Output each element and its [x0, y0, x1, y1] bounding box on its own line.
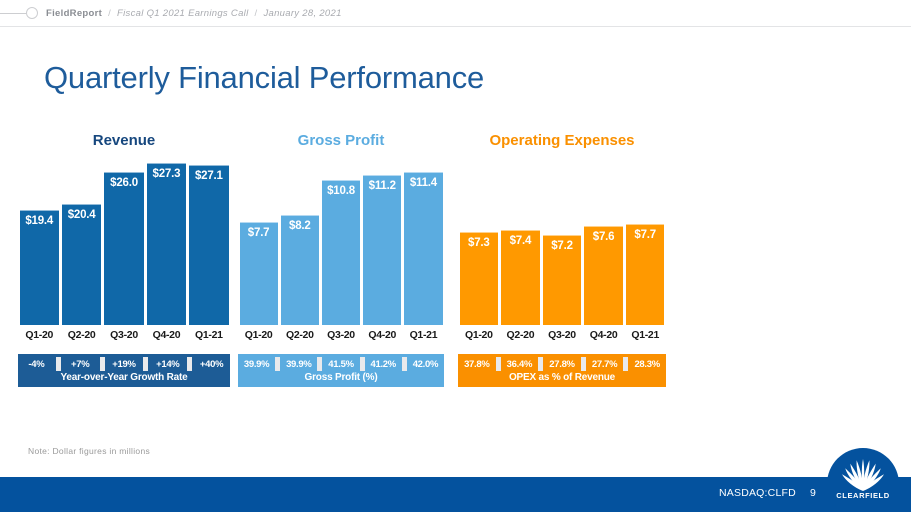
stock-ticker: NASDAQ:CLFD — [719, 487, 796, 499]
bar-slot: $26.0 — [104, 163, 143, 325]
metric-strip-caption: OPEX as % of Revenue — [461, 371, 663, 385]
bar-value-label: $7.2 — [543, 240, 582, 252]
strip-divider — [317, 357, 322, 371]
bar-slot: $7.2 — [543, 163, 582, 325]
bar-revenue-q1-21[interactable]: $27.1 — [189, 165, 228, 325]
metric-strip-gross-profit: 39.9% 39.9% 41.5% 41.2% 42.0% Gross Prof… — [238, 354, 444, 387]
bar-value-label: $27.1 — [189, 170, 228, 182]
gross-margin-value: 41.5% — [325, 357, 356, 371]
category-label: Q2-20 — [281, 329, 319, 341]
bar-slot: $7.6 — [584, 163, 623, 325]
bar-revenue-q3-20[interactable]: $26.0 — [104, 172, 143, 325]
bar-value-label: $7.7 — [240, 227, 278, 239]
category-label: Q3-20 — [322, 329, 360, 341]
breadcrumb-item-deck[interactable]: Fiscal Q1 2021 Earnings Call — [117, 8, 248, 19]
clearfield-shell-icon — [841, 458, 885, 492]
bar-value-label: $7.3 — [460, 237, 499, 249]
page-title: Quarterly Financial Performance — [44, 60, 484, 96]
metric-strip-operating-expenses: 37.8% 36.4% 27.8% 27.7% 28.3% OPEX as % … — [458, 354, 666, 387]
opex-ratio-value: 36.4% — [504, 357, 536, 371]
strip-divider — [538, 357, 543, 371]
bar-value-label: $26.0 — [104, 177, 143, 189]
strip-divider — [402, 357, 407, 371]
bar-value-label: $20.4 — [62, 209, 101, 221]
category-label: Q2-20 — [62, 329, 101, 341]
chart-title-operating-expenses: Operating Expenses — [458, 132, 666, 149]
category-label: Q4-20 — [363, 329, 401, 341]
bar-value-label: $11.2 — [363, 180, 401, 192]
growth-value: +19% — [109, 357, 140, 371]
category-axis-operating-expenses: Q1-20 Q2-20 Q3-20 Q4-20 Q1-21 — [458, 329, 666, 341]
bar-value-label: $11.4 — [404, 177, 442, 189]
line-node-icon — [0, 5, 46, 21]
bar-value-label: $7.4 — [501, 235, 540, 247]
category-label: Q2-20 — [501, 329, 540, 341]
bar-slot: $7.3 — [460, 163, 499, 325]
strip-divider — [187, 357, 192, 371]
bar-plot-operating-expenses: $7.3 $7.4 $7.2 $7.6 $7.7 — [458, 163, 666, 325]
growth-value: -4% — [21, 357, 52, 371]
gross-margin-value: 39.9% — [241, 357, 272, 371]
growth-value: +7% — [65, 357, 96, 371]
bar-gross-q2-20[interactable]: $8.2 — [281, 215, 319, 325]
bar-opex-q3-20[interactable]: $7.2 — [543, 235, 582, 325]
gross-margin-value: 42.0% — [410, 357, 441, 371]
bar-opex-q2-20[interactable]: $7.4 — [501, 230, 540, 325]
bar-opex-q1-20[interactable]: $7.3 — [460, 232, 499, 325]
category-label: Q1-21 — [626, 329, 665, 341]
gross-margin-value: 41.2% — [368, 357, 399, 371]
bar-plot-gross-profit: $7.7 $8.2 $10.8 $11.2 $11.4 — [238, 163, 444, 325]
clearfield-logo-badge: CLEARFIELD — [827, 448, 899, 512]
metric-strip-values: -4% +7% +19% +14% +40% — [21, 357, 227, 371]
opex-ratio-value: 27.7% — [589, 357, 621, 371]
opex-ratio-value: 27.8% — [546, 357, 578, 371]
strip-divider — [581, 357, 586, 371]
category-label: Q1-21 — [189, 329, 228, 341]
bar-gross-q4-20[interactable]: $11.2 — [363, 175, 401, 325]
chart-panel-revenue: Revenue $19.4 $20.4 $26.0 $27.3 $27.1 Q1… — [18, 132, 230, 387]
bar-slot: $10.8 — [322, 163, 360, 325]
strip-divider — [143, 357, 148, 371]
strip-divider — [100, 357, 105, 371]
bar-slot: $27.3 — [147, 163, 186, 325]
opex-ratio-value: 37.8% — [461, 357, 493, 371]
bar-value-label: $27.3 — [147, 168, 186, 180]
strip-divider — [360, 357, 365, 371]
strip-divider — [496, 357, 501, 371]
chart-panel-operating-expenses: Operating Expenses $7.3 $7.4 $7.2 $7.6 $… — [458, 132, 666, 387]
metric-strip-values: 37.8% 36.4% 27.8% 27.7% 28.3% — [461, 357, 663, 371]
bar-opex-q1-21[interactable]: $7.7 — [626, 224, 665, 325]
bar-revenue-q4-20[interactable]: $27.3 — [147, 163, 186, 325]
growth-value: +14% — [152, 357, 183, 371]
metric-strip-values: 39.9% 39.9% 41.5% 41.2% 42.0% — [241, 357, 441, 371]
category-label: Q1-20 — [460, 329, 499, 341]
chart-title-revenue: Revenue — [18, 132, 230, 149]
slide-page-number: 9 — [810, 487, 816, 499]
breadcrumb: FieldReport / Fiscal Q1 2021 Earnings Ca… — [46, 8, 342, 19]
app-header: FieldReport / Fiscal Q1 2021 Earnings Ca… — [0, 0, 911, 27]
category-axis-gross-profit: Q1-20 Q2-20 Q3-20 Q4-20 Q1-21 — [238, 329, 444, 341]
category-axis-revenue: Q1-20 Q2-20 Q3-20 Q4-20 Q1-21 — [18, 329, 230, 341]
bar-slot: $7.4 — [501, 163, 540, 325]
slide-canvas: FieldReport / Fiscal Q1 2021 Earnings Ca… — [0, 0, 911, 512]
chart-title-gross-profit: Gross Profit — [238, 132, 444, 149]
bar-slot: $11.4 — [404, 163, 442, 325]
bar-gross-q3-20[interactable]: $10.8 — [322, 180, 360, 325]
chart-panel-gross-profit: Gross Profit $7.7 $8.2 $10.8 $11.2 $11.4… — [238, 132, 444, 387]
gross-margin-value: 39.9% — [283, 357, 314, 371]
bar-value-label: $7.7 — [626, 229, 665, 241]
footnote: Note: Dollar figures in millions — [28, 446, 150, 456]
bar-revenue-q2-20[interactable]: $20.4 — [62, 204, 101, 325]
breadcrumb-separator-1: / — [108, 8, 111, 19]
bar-value-label: $7.6 — [584, 231, 623, 243]
bar-value-label: $8.2 — [281, 220, 319, 232]
bar-slot: $7.7 — [240, 163, 278, 325]
bar-value-label: $19.4 — [20, 215, 59, 227]
strip-divider — [623, 357, 628, 371]
growth-value: +40% — [196, 357, 227, 371]
category-label: Q4-20 — [584, 329, 623, 341]
strip-divider — [275, 357, 280, 371]
bar-gross-q1-20[interactable]: $7.7 — [240, 222, 278, 325]
bar-revenue-q1-20[interactable]: $19.4 — [20, 210, 59, 325]
category-label: Q1-20 — [20, 329, 59, 341]
bar-slot: $7.7 — [626, 163, 665, 325]
bar-slot: $27.1 — [189, 163, 228, 325]
breadcrumb-item-date[interactable]: January 28, 2021 — [263, 8, 341, 19]
bar-slot: $8.2 — [281, 163, 319, 325]
category-label: Q1-20 — [240, 329, 278, 341]
metric-strip-caption: Gross Profit (%) — [241, 371, 441, 385]
metric-strip-revenue: -4% +7% +19% +14% +40% Year-over-Year Gr… — [18, 354, 230, 387]
bar-value-label: $10.8 — [322, 185, 360, 197]
clearfield-wordmark: CLEARFIELD — [827, 491, 899, 500]
opex-ratio-value: 28.3% — [631, 357, 663, 371]
bar-gross-q1-21[interactable]: $11.4 — [404, 172, 442, 325]
bar-slot: $11.2 — [363, 163, 401, 325]
breadcrumb-brand[interactable]: FieldReport — [46, 8, 102, 19]
category-label: Q1-21 — [404, 329, 442, 341]
category-label: Q4-20 — [147, 329, 186, 341]
bar-plot-revenue: $19.4 $20.4 $26.0 $27.3 $27.1 — [18, 163, 230, 325]
metric-strip-caption: Year-over-Year Growth Rate — [21, 371, 227, 385]
icon-circle — [26, 7, 38, 19]
category-label: Q3-20 — [104, 329, 143, 341]
bar-slot: $19.4 — [20, 163, 59, 325]
bar-opex-q4-20[interactable]: $7.6 — [584, 226, 623, 325]
breadcrumb-separator-2: / — [254, 8, 257, 19]
category-label: Q3-20 — [543, 329, 582, 341]
bar-slot: $20.4 — [62, 163, 101, 325]
strip-divider — [56, 357, 61, 371]
